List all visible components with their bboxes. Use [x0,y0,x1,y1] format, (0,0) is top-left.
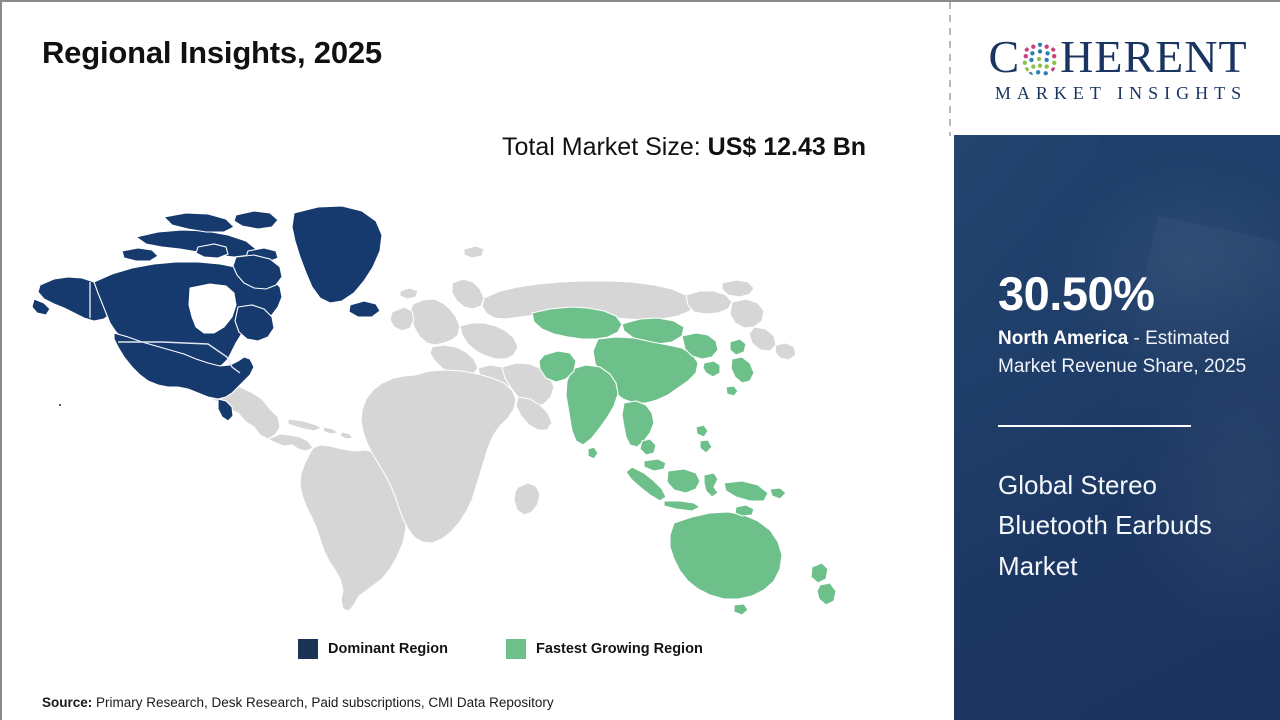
left-content-panel: Regional Insights, 2025 Total Market Siz… [2,2,950,720]
stat-description: North America - Estimated Market Revenue… [998,325,1266,380]
map-region-north-america[interactable] [32,206,382,421]
infographic-slide: Regional Insights, 2025 Total Market Siz… [0,0,1280,720]
dotted-globe-icon [1021,40,1059,78]
world-map-svg [32,187,862,617]
source-note: Source: Primary Research, Desk Research,… [42,695,554,710]
source-text: Primary Research, Desk Research, Paid su… [92,695,553,710]
logo-letters-herent: HERENT [1060,34,1247,80]
logo-subtitle: MARKET INSIGHTS [989,83,1247,104]
logo-letter-c: C [988,34,1020,80]
map-legend: Dominant Region Fastest Growing Region [298,639,703,659]
market-title: Global Stereo Bluetooth Earbuds Market [998,465,1248,586]
market-size-label: Total Market Size: [502,133,708,161]
legend-label-fastest: Fastest Growing Region [536,641,703,657]
market-size-value: US$ 12.43 Bn [708,133,866,161]
legend-item-fastest: Fastest Growing Region [506,639,703,659]
panel-divider [998,425,1191,427]
source-key: Source: [42,695,92,710]
legend-label-dominant: Dominant Region [328,641,448,657]
world-map[interactable] [32,187,862,617]
square-swatch-icon [506,639,526,659]
square-swatch-icon [298,639,318,659]
stats-panel: 30.50% North America - Estimated Market … [954,135,1280,720]
vertical-dashed-divider [949,2,951,136]
stat-percentage: 30.50% [998,270,1154,317]
right-sidebar-panel: C [954,2,1280,720]
total-market-size: Total Market Size: US$ 12.43 Bn [502,128,902,167]
stat-region-name: North America [998,328,1128,349]
brand-logo[interactable]: C [954,2,1280,135]
logo-wordmark: C [988,34,1247,80]
page-title: Regional Insights, 2025 [42,35,382,71]
legend-item-dominant: Dominant Region [298,639,448,659]
